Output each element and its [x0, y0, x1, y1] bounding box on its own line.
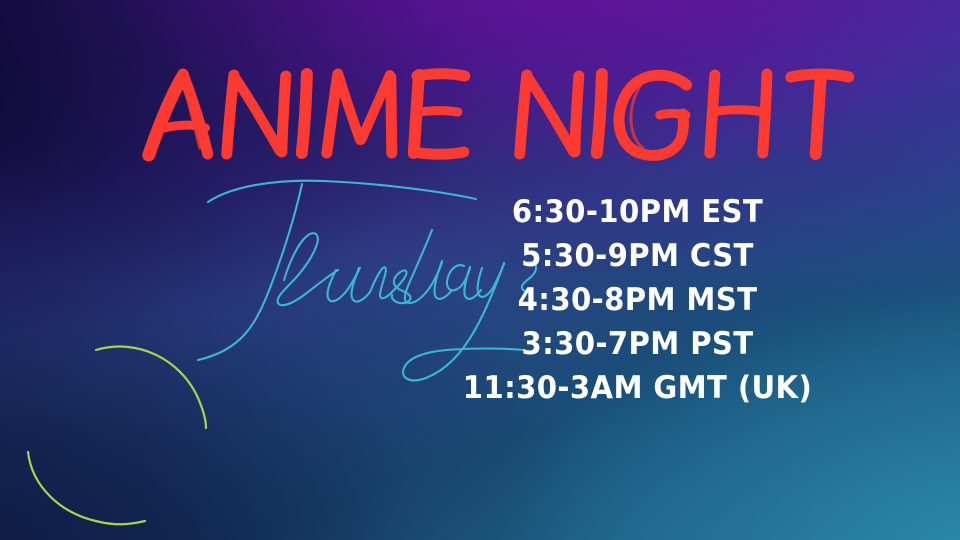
times-line: 3:30-7PM PST [438, 322, 838, 366]
times-line: 11:30-3AM GMT (UK) [438, 366, 838, 410]
times-line: 6:30-10PM EST [438, 190, 838, 234]
logo-circle-arcs [8, 318, 238, 533]
rogue-syndicate-logo: ROGUE SYNDICATE It's giving chaos. [8, 318, 238, 533]
times-line: 5:30-9PM CST [438, 234, 838, 278]
poster-title [0, 52, 960, 162]
times-list: 6:30-10PM EST 5:30-9PM CST 4:30-8PM MST … [425, 190, 850, 410]
poster-title-artwork [0, 52, 960, 162]
anime-night-poster: 6:30-10PM EST 5:30-9PM CST 4:30-8PM MST … [0, 0, 960, 540]
times-line: 4:30-8PM MST [438, 278, 838, 322]
